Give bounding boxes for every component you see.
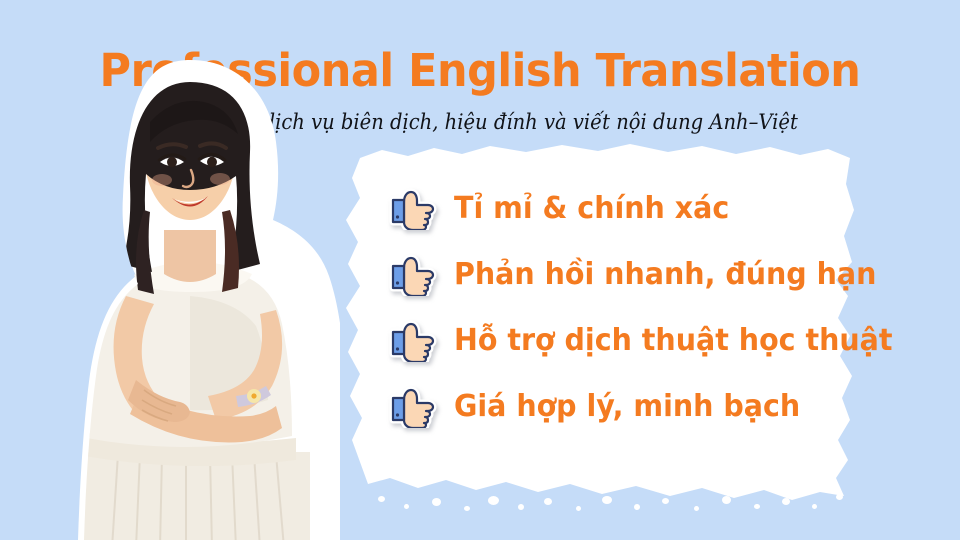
list-item-label: Tỉ mỉ & chính xác bbox=[454, 194, 729, 224]
paper-speck bbox=[544, 498, 552, 505]
pointing-right-hand-icon bbox=[386, 386, 440, 428]
list-item: Tỉ mỉ & chính xác bbox=[386, 176, 866, 242]
translation-service-banner: Professional English Translation Cung cấ… bbox=[0, 0, 960, 540]
feature-list: Tỉ mỉ & chính xác Phản hồi nhanh, đúng h… bbox=[386, 176, 866, 440]
paper-speck bbox=[576, 506, 581, 511]
paper-speck bbox=[754, 504, 760, 509]
list-item: Hỗ trợ dịch thuật học thuật bbox=[386, 308, 866, 374]
paper-speck bbox=[722, 496, 731, 504]
paper-speck bbox=[432, 498, 441, 506]
paper-speck bbox=[464, 506, 470, 511]
list-item-label: Phản hồi nhanh, đúng hạn bbox=[454, 260, 876, 290]
paper-speck bbox=[602, 496, 612, 504]
list-item: Giá hợp lý, minh bạch bbox=[386, 374, 866, 440]
paper-speck bbox=[812, 504, 817, 509]
list-item-label: Hỗ trợ dịch thuật học thuật bbox=[454, 326, 893, 356]
portrait-photo bbox=[40, 60, 340, 540]
portrait-illustration bbox=[40, 60, 340, 540]
paper-speck bbox=[404, 504, 409, 509]
paper-speck bbox=[634, 504, 640, 510]
pointing-right-hand-icon bbox=[386, 188, 440, 230]
paper-speck bbox=[488, 496, 499, 505]
paper-speck bbox=[782, 498, 790, 505]
paper-speck bbox=[662, 498, 669, 504]
list-item-label: Giá hợp lý, minh bạch bbox=[454, 392, 800, 422]
list-item: Phản hồi nhanh, đúng hạn bbox=[386, 242, 866, 308]
paper-speck bbox=[836, 494, 843, 500]
paper-speck bbox=[518, 504, 524, 510]
pointing-right-hand-icon bbox=[386, 254, 440, 296]
paper-speck bbox=[378, 496, 385, 502]
pointing-right-hand-icon bbox=[386, 320, 440, 362]
paper-speck bbox=[694, 506, 699, 511]
